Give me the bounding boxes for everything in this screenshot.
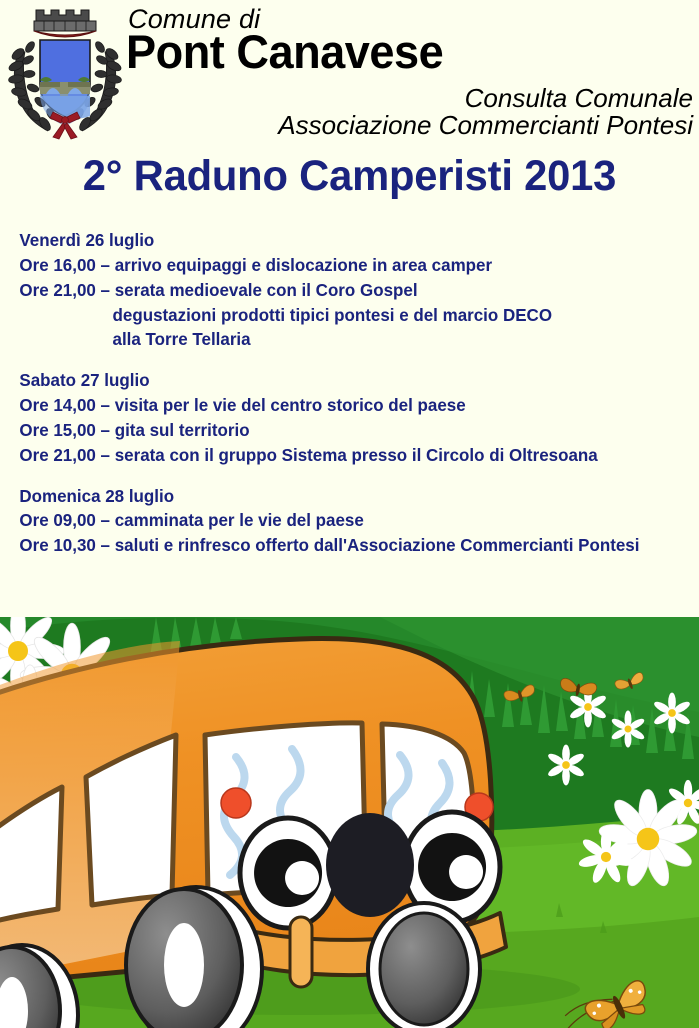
event-line: Ore 16,00 – arrivo equipaggi e dislocazi… bbox=[0, 253, 678, 278]
event-line: Ore 21,00 – serata con il gruppo Sistema… bbox=[0, 443, 678, 468]
day-block: Domenica 28 luglioOre 09,00 – camminata … bbox=[0, 484, 699, 559]
page-title: 2° Raduno Camperisti 2013 bbox=[10, 152, 688, 201]
event-line: alla Torre Tellaria bbox=[0, 327, 678, 352]
poster: Comune di Pont Canavese Consulta Comunal… bbox=[0, 0, 699, 1028]
day-heading: Sabato 27 luglio bbox=[0, 368, 678, 393]
van-eye-left bbox=[240, 818, 336, 928]
camper-van-illustration bbox=[0, 617, 699, 1028]
poster-header: Comune di Pont Canavese Consulta Comunal… bbox=[0, 0, 699, 146]
event-line: Ore 21,00 – serata medioevale con il Cor… bbox=[0, 278, 678, 303]
day-block: Venerdì 26 luglioOre 16,00 – arrivo equi… bbox=[0, 228, 699, 352]
town-name: Pont Canavese bbox=[126, 28, 443, 75]
event-line: Ore 09,00 – camminata per le vie del pae… bbox=[0, 508, 678, 533]
event-line: Ore 15,00 – gita sul territorio bbox=[0, 418, 678, 443]
event-line: Ore 10,30 – saluti e rinfresco offerto d… bbox=[0, 533, 678, 558]
day-heading: Domenica 28 luglio bbox=[0, 484, 678, 509]
day-heading: Venerdì 26 luglio bbox=[0, 228, 678, 253]
subtitle-associazione: Associazione Commercianti Pontesi bbox=[278, 110, 693, 141]
event-line: degustazioni prodotti tipici pontesi e d… bbox=[0, 303, 678, 328]
van-wheel-front bbox=[126, 887, 262, 1028]
coat-of-arms-icon bbox=[6, 2, 124, 142]
event-line: Ore 14,00 – visita per le vie del centro… bbox=[0, 393, 678, 418]
program-schedule: Venerdì 26 luglioOre 16,00 – arrivo equi… bbox=[0, 228, 699, 574]
van-wheel-right bbox=[368, 903, 480, 1028]
header-text-block: Comune di Pont Canavese Consulta Comunal… bbox=[124, 0, 697, 146]
day-block: Sabato 27 luglioOre 14,00 – visita per l… bbox=[0, 368, 699, 467]
van-nose bbox=[326, 813, 414, 917]
